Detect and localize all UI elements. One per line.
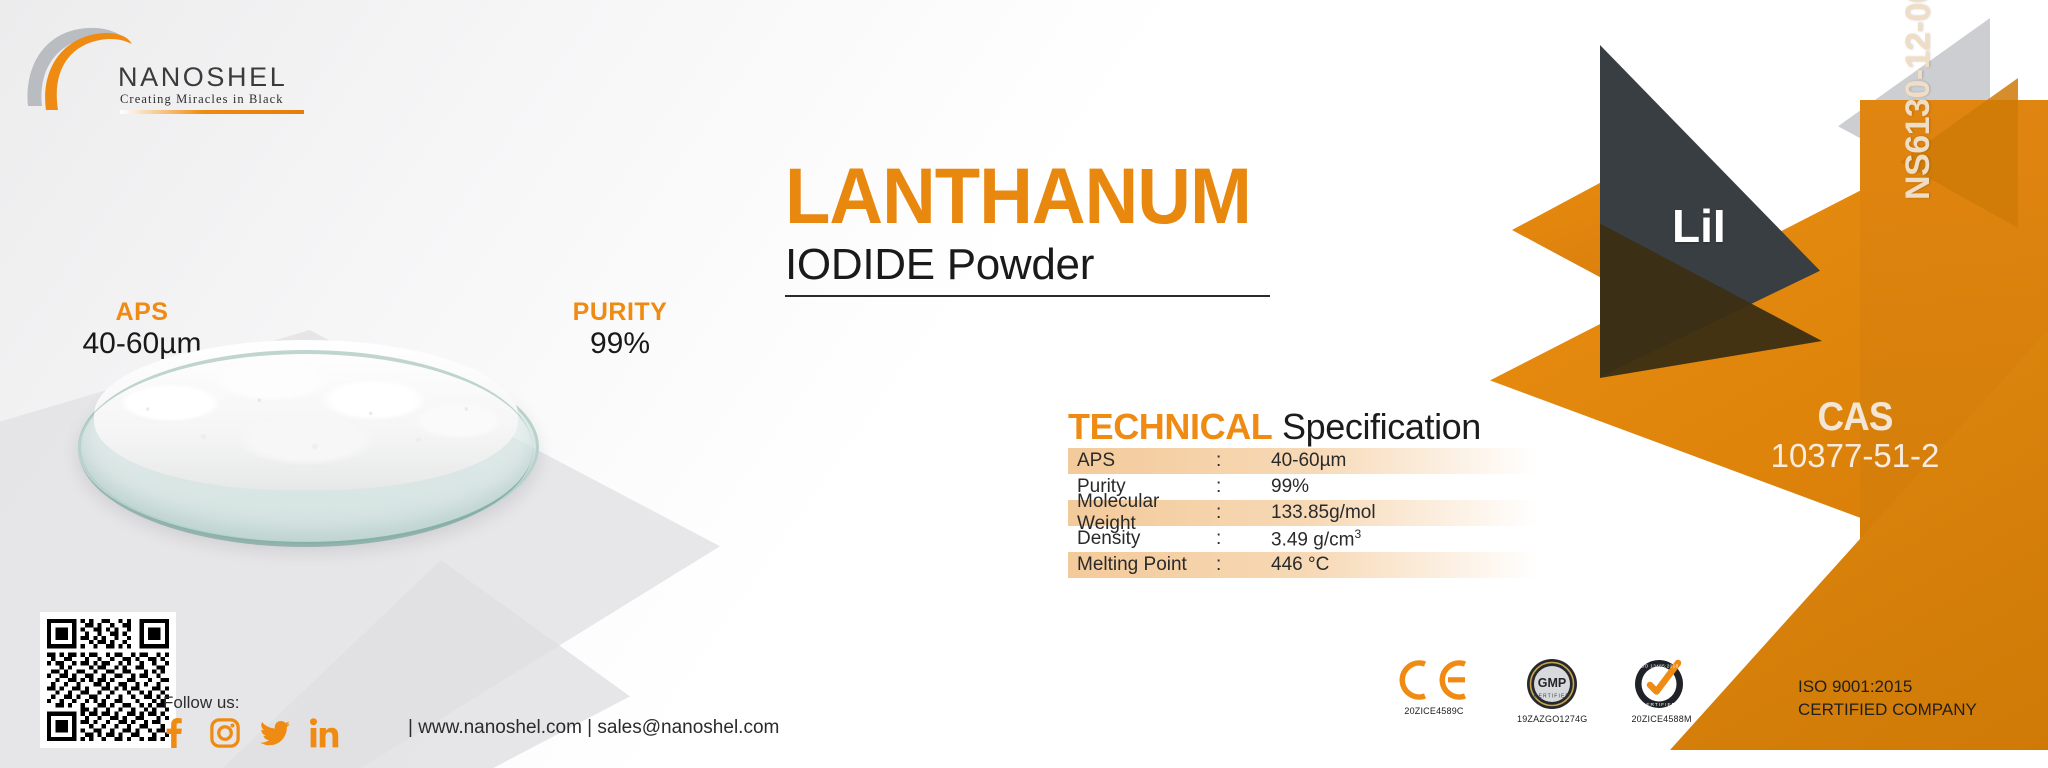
table-row: APS : 40-60µm	[1068, 448, 1538, 474]
spec-separator: :	[1216, 476, 1271, 498]
spec-value: 133.85g/mol	[1271, 502, 1538, 524]
cas-number: 10377-51-2	[1740, 438, 1970, 475]
spec-heading-rest: Specification	[1282, 406, 1481, 447]
twitter-icon[interactable]	[260, 718, 290, 748]
instagram-icon[interactable]	[210, 718, 240, 748]
spec-label: Density	[1068, 528, 1216, 550]
logo-underline	[120, 110, 304, 114]
facebook-icon[interactable]	[160, 718, 190, 748]
iso-13485-code: 20ZICE4588M	[1631, 714, 1691, 724]
svg-text:CERTIFIED: CERTIFIED	[1641, 702, 1675, 708]
certification-badges: 20ZICE4589C GMP CERTIFIED 19ZAZGO1274G I…	[1395, 658, 1692, 724]
qr-code[interactable]	[40, 612, 176, 748]
svg-text:GMP: GMP	[1538, 676, 1566, 690]
product-photo-petri-dish	[78, 332, 533, 547]
social-links	[160, 718, 340, 748]
linkedin-icon[interactable]	[310, 718, 340, 748]
cas-block: CAS 10377-51-2	[1740, 398, 1970, 475]
ce-mark-badge: 20ZICE4589C	[1395, 658, 1473, 716]
follow-us-label: Follow us:	[163, 693, 240, 713]
qr-code-icon	[47, 619, 169, 741]
iso-statement: ISO 9001:2015 CERTIFIED COMPANY	[1798, 676, 1977, 722]
callout-aps-key: APS	[78, 300, 206, 325]
svg-text:ISO 13485:2016: ISO 13485:2016	[1639, 664, 1678, 669]
svg-text:CERTIFIED: CERTIFIED	[1534, 694, 1570, 700]
spec-value: 446 °C	[1271, 554, 1538, 576]
iso-13485-badge: ISO 13485:2016 CERTIFIED 20ZICE4588M	[1631, 658, 1691, 724]
spec-table: APS : 40-60µm Purity : 99% Molecular Wei…	[1068, 448, 1538, 578]
callout-purity-value: 99%	[555, 327, 685, 361]
spec-label: Melting Point	[1068, 554, 1216, 576]
product-code: NS6130-12-001044	[1899, 0, 1938, 200]
contact-info[interactable]: | www.nanoshel.com | sales@nanoshel.com	[408, 717, 779, 739]
spec-value: 99%	[1271, 476, 1538, 498]
spec-value: 40-60µm	[1271, 450, 1538, 472]
powder-texture	[108, 376, 506, 486]
spec-value: 3.49 g/cm3	[1271, 527, 1538, 551]
spec-heading: TECHNICAL Specification	[1068, 408, 1538, 446]
gmp-certified-icon: GMP CERTIFIED	[1526, 658, 1578, 710]
page-title: LANTHANUM	[785, 160, 1255, 233]
gmp-badge: GMP CERTIFIED 19ZAZGO1274G	[1517, 658, 1587, 724]
product-subtitle: IODIDE Powder	[785, 239, 1285, 291]
title-underline	[785, 295, 1270, 297]
callout-purity-key: PURITY	[555, 300, 685, 325]
spec-separator: :	[1216, 502, 1271, 524]
swoosh-arc-icon	[22, 18, 132, 112]
spec-heading-accent: TECHNICAL	[1068, 406, 1272, 447]
iso-13485-certified-icon: ISO 13485:2016 CERTIFIED	[1634, 658, 1690, 710]
spec-separator: :	[1216, 450, 1271, 472]
ce-mark-code: 20ZICE4589C	[1404, 706, 1463, 716]
callout-purity: PURITY 99%	[555, 300, 685, 361]
ce-mark-icon	[1395, 658, 1473, 702]
chemical-formula: LiI	[1672, 199, 1726, 253]
iso-statement-line2: CERTIFIED COMPANY	[1798, 699, 1977, 722]
product-title-block: LANTHANUM IODIDE Powder	[785, 160, 1285, 297]
gmp-code: 19ZAZGO1274G	[1517, 714, 1587, 724]
brand-logo: NANOSHEL Creating Miracles in Black	[22, 18, 322, 112]
cas-label: CAS	[1749, 398, 1961, 436]
spec-separator: :	[1216, 554, 1271, 576]
spec-value-superscript: 3	[1354, 527, 1361, 541]
product-banner: NANOSHEL Creating Miracles in Black APS …	[0, 0, 2048, 768]
spec-label: APS	[1068, 450, 1216, 472]
iso-statement-line1: ISO 9001:2015	[1798, 676, 1977, 699]
brand-tagline: Creating Miracles in Black	[120, 92, 284, 107]
technical-specification: TECHNICAL Specification APS : 40-60µm Pu…	[1068, 408, 1538, 578]
brand-name: NANOSHEL	[118, 62, 287, 93]
table-row: Molecular Weight : 133.85g/mol	[1068, 500, 1538, 526]
table-row: Density : 3.49 g/cm3	[1068, 526, 1538, 552]
spec-separator: :	[1216, 528, 1271, 550]
table-row: Melting Point : 446 °C	[1068, 552, 1538, 578]
